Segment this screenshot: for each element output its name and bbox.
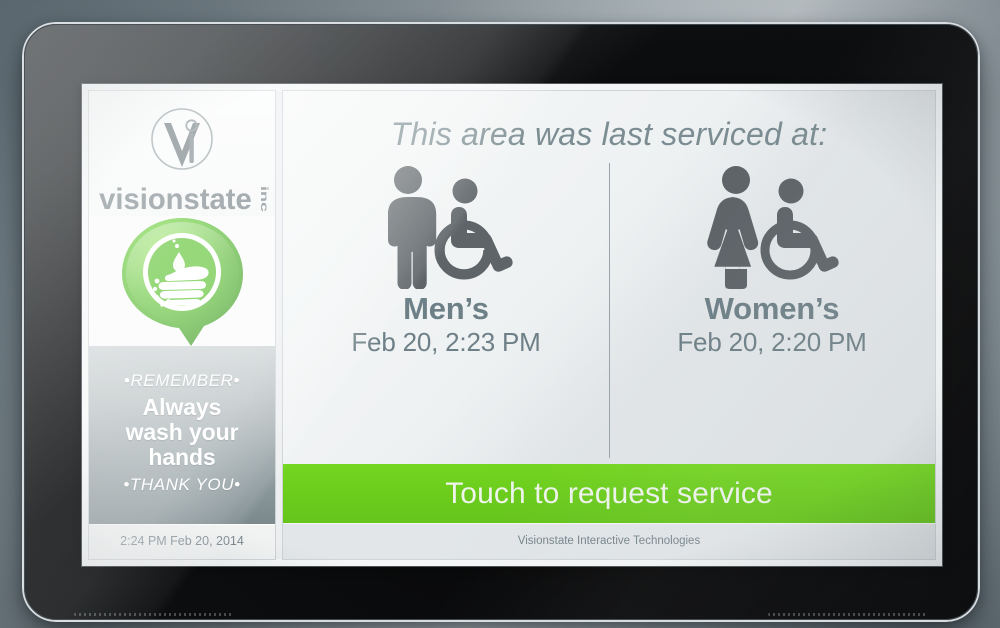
background-vignette (0, 0, 1000, 628)
speaker-grille-left (74, 613, 234, 616)
screenshot-stage: visionstate inc (0, 0, 1000, 628)
speaker-grille-right (768, 613, 928, 616)
